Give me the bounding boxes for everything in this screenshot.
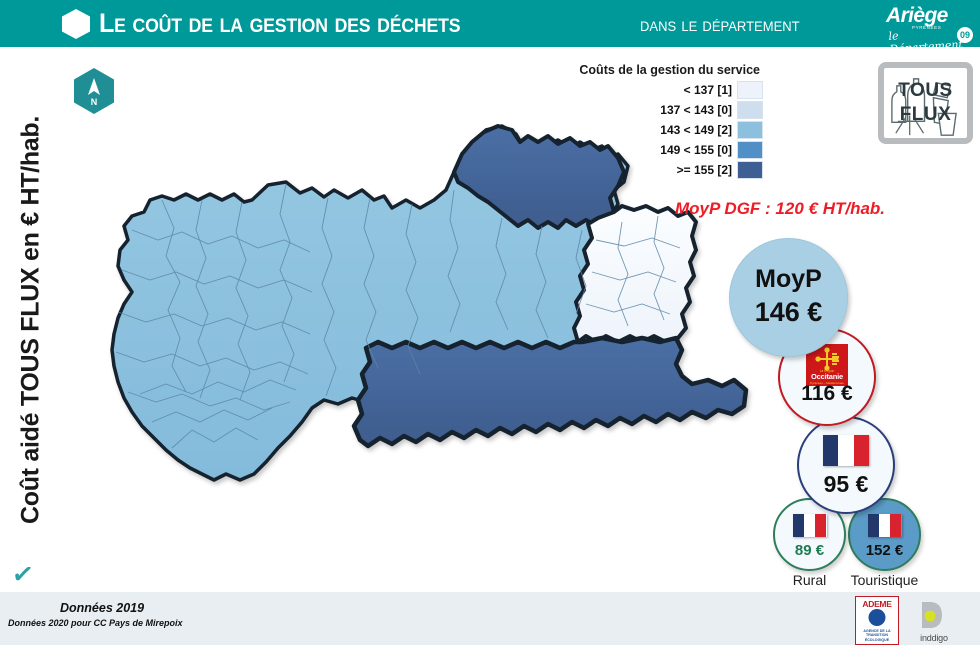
tous-flux-line1: TOUS	[884, 80, 967, 102]
legend-item-label: >= 155 [2]	[677, 163, 732, 177]
poster-root: Le coût de la gestion des déchets dans l…	[0, 0, 980, 645]
legend-swatch	[737, 101, 763, 119]
legend-item-label: 149 < 155 [0]	[660, 143, 732, 157]
footer-data-note: Données 2020 pour CC Pays de Mirepoix	[8, 618, 183, 628]
stat-value-touristique: 152 €	[850, 542, 919, 559]
legend-title: Coûts de la gestion du service	[548, 63, 763, 77]
header-bar: Le coût de la gestion des déchets dans l…	[0, 0, 980, 47]
legend-swatch	[737, 161, 763, 179]
legend-item[interactable]: 137 < 143 [0]	[548, 101, 763, 119]
legend-item-label: < 137 [1]	[684, 83, 732, 97]
tous-flux-badge: TOUS FLUX	[878, 62, 973, 144]
legend-swatch	[737, 81, 763, 99]
stat-value-rural: 89 €	[775, 542, 844, 559]
stat-label-moyp: MoyP	[730, 265, 847, 294]
epci-area-northeast-light[interactable]	[574, 206, 696, 342]
inddigo-mark-icon	[908, 598, 960, 632]
tous-flux-line2: FLUX	[884, 104, 967, 126]
check-swoosh-icon: ✓	[10, 558, 36, 592]
legend-item[interactable]: < 137 [1]	[548, 81, 763, 99]
inddigo-logo: inddigo	[908, 598, 960, 643]
occitanie-logo-word: Occitanie	[806, 372, 848, 381]
france-flag-icon	[793, 514, 827, 537]
globe-icon	[869, 609, 886, 626]
epci-area-southeast-dark[interactable]	[354, 338, 746, 446]
legend-item-label: 143 < 149 [2]	[660, 123, 732, 137]
page-subtitle: dans le département	[640, 14, 800, 37]
ariege-logo: Ariège PYRÉNÉES le Département 09	[886, 2, 974, 45]
stat-value-occitanie: 116 €	[780, 382, 874, 406]
france-flag-icon	[823, 435, 869, 466]
ariege-logo-badge: 09	[957, 27, 973, 43]
stat-value-moyp: 146 €	[730, 297, 847, 328]
legend-item[interactable]: 143 < 149 [2]	[548, 121, 763, 139]
map-legend: Coûts de la gestion du service < 137 [1]…	[548, 63, 763, 181]
moyp-dgf-reference: MoyP DGF : 120 € HT/hab.	[675, 199, 885, 219]
stat-bubble-moyp[interactable]: MoyP 146 €	[729, 238, 848, 357]
legend-item-label: 137 < 143 [0]	[660, 103, 732, 117]
stat-caption-touristique: Touristique	[838, 572, 931, 588]
side-axis-label-text: Coût aidé TOUS FLUX en € HT/hab.	[17, 115, 46, 523]
stat-caption-rural: Rural	[773, 572, 846, 588]
stat-bubble-france[interactable]: 95 €	[797, 416, 895, 514]
hexagon-icon	[62, 9, 90, 39]
legend-item[interactable]: 149 < 155 [0]	[548, 141, 763, 159]
legend-item[interactable]: >= 155 [2]	[548, 161, 763, 179]
side-axis-label: Coût aidé TOUS FLUX en € HT/hab. ✓	[0, 47, 62, 592]
page-title: Le coût de la gestion des déchets	[99, 8, 460, 39]
france-flag-icon	[868, 514, 902, 537]
ademe-logo-tagline: AGENCE DE LA TRANSITION ÉCOLOGIQUE	[856, 629, 898, 642]
inddigo-logo-name: inddigo	[908, 633, 960, 643]
ademe-logo: ADEME AGENCE DE LA TRANSITION ÉCOLOGIQUE	[855, 596, 899, 645]
legend-swatch	[737, 121, 763, 139]
footer-bar: Données 2019 Données 2020 pour CC Pays d…	[0, 592, 980, 645]
footer-data-year: Données 2019	[60, 601, 144, 615]
legend-swatch	[737, 141, 763, 159]
ademe-logo-name: ADEME	[856, 599, 898, 609]
stat-value-france: 95 €	[799, 471, 893, 498]
